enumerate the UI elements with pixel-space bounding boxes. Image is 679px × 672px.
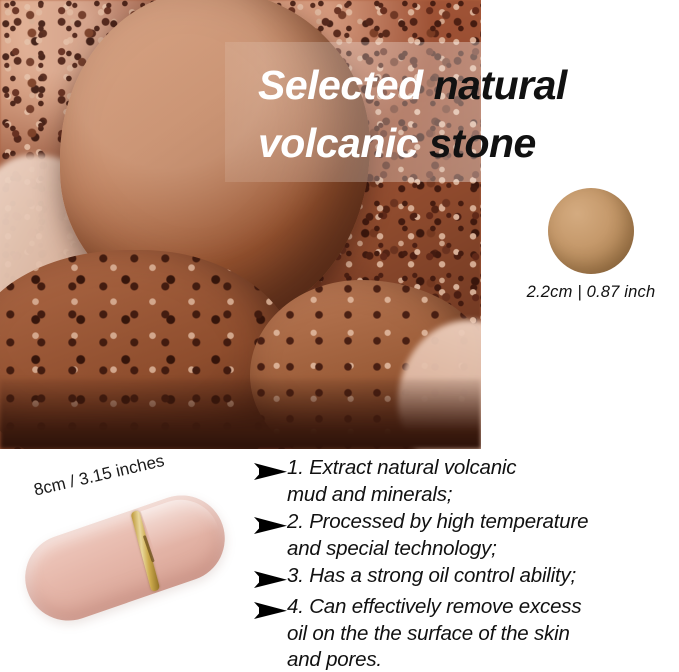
pink-roller-device-image (14, 484, 237, 632)
headline-word-volcanic: volcanic (258, 120, 418, 166)
list-item-label: 1. Extract natural volcanic mud and mine… (287, 455, 516, 508)
device-group: 8cm / 3.15 inches (0, 449, 250, 672)
list-item-label: 3. Has a strong oil control ability; (287, 563, 576, 590)
device-size-caption: 8cm / 3.15 inches (32, 451, 166, 500)
headline-word-natural: natural (434, 62, 567, 108)
list-item-label: 2. Processed by high temperature and spe… (287, 509, 588, 562)
page-title: Selected natural volcanic stone (258, 56, 678, 172)
list-item-label: 4. Can effectively remove excess oil on … (287, 594, 581, 672)
arrow-bullet-icon (253, 567, 287, 593)
list-item: 1. Extract natural volcanic mud and mine… (253, 455, 679, 508)
stone-ball-size-caption: 2.2cm | 0.87 inch (503, 283, 679, 302)
arrow-bullet-icon (253, 598, 287, 624)
stone-ball-group: 2.2cm | 0.87 inch (503, 188, 679, 308)
stone-ball-image (548, 188, 634, 274)
headline-line-1: Selected natural (258, 56, 678, 114)
list-item: 2. Processed by high temperature and spe… (253, 509, 679, 562)
list-item: 4. Can effectively remove excess oil on … (253, 594, 679, 672)
headline-word-stone: stone (429, 120, 536, 166)
feature-list: 1. Extract natural volcanic mud and mine… (253, 455, 679, 672)
headline-word-selected: Selected (258, 62, 423, 108)
product-infographic: Selected natural volcanic stone 2.2cm | … (0, 0, 679, 672)
arrow-bullet-icon (253, 459, 287, 485)
photo-foreground-shadow (0, 379, 481, 449)
arrow-bullet-icon (253, 513, 287, 539)
list-item: 3. Has a strong oil control ability; (253, 563, 679, 593)
headline-line-2: volcanic stone (258, 114, 678, 172)
